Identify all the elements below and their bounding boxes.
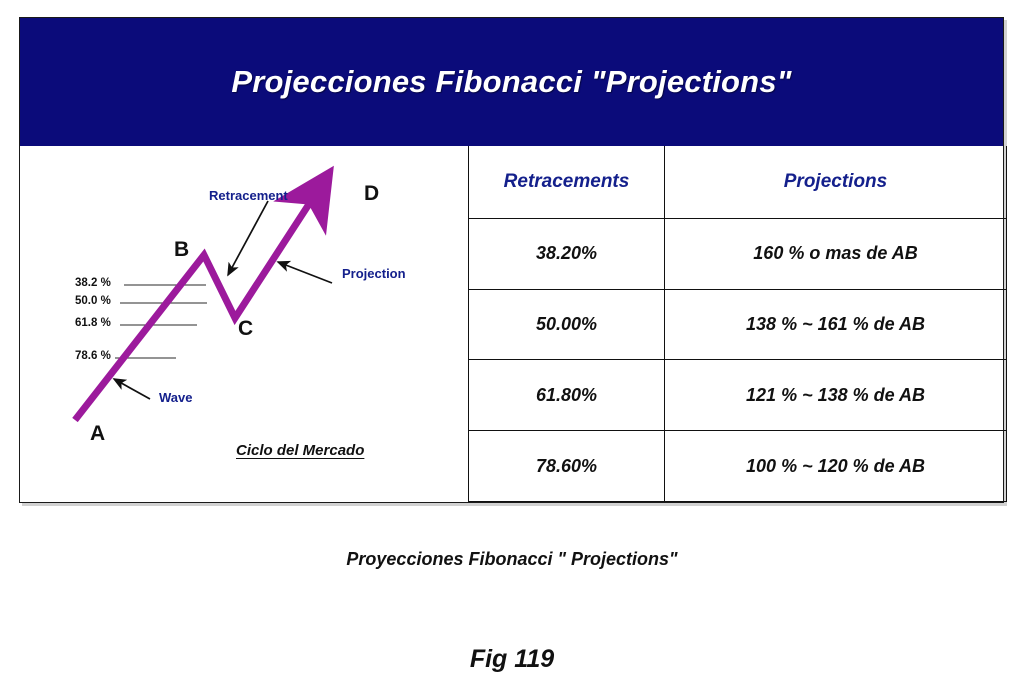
cell-retracement-4: 78.60% bbox=[469, 431, 665, 502]
point-label-C: C bbox=[238, 318, 253, 339]
table-row: 78.60% 100 % ~ 120 % de AB bbox=[469, 431, 1007, 502]
cell-retracement-2: 50.00% bbox=[469, 289, 665, 360]
page-title: Projecciones Fibonacci "Projections" bbox=[231, 64, 791, 100]
cell-projection-1: 160 % o mas de AB bbox=[665, 218, 1007, 289]
annotation-wave: Wave bbox=[159, 391, 192, 404]
figure-caption-text: Proyecciones Fibonacci " Projections" bbox=[0, 549, 1024, 570]
annotation-retracement: Retracement bbox=[209, 189, 288, 202]
point-label-A: A bbox=[90, 423, 105, 444]
diagram-footer-label: Ciclo del Mercado bbox=[236, 443, 364, 458]
point-label-D: D bbox=[364, 183, 379, 204]
market-cycle-diagram: A B C D Retracement Projection Wave 38.2… bbox=[20, 146, 468, 502]
header-label-retracements: Retracements bbox=[504, 171, 630, 192]
value-projection-3: 121 % ~ 138 % de AB bbox=[746, 385, 925, 405]
header-cell-projections: Projections bbox=[665, 146, 1007, 218]
value-retracement-2: 50.00% bbox=[536, 314, 597, 334]
header-cell-retracements: Retracements bbox=[469, 146, 665, 218]
projection-leader-arrow bbox=[278, 262, 332, 283]
value-projection-1: 160 % o mas de AB bbox=[753, 243, 917, 263]
level-label-61-8: 61.8 % bbox=[75, 318, 111, 330]
value-retracement-1: 38.20% bbox=[536, 243, 597, 263]
title-banner: Projecciones Fibonacci "Projections" bbox=[20, 18, 1003, 146]
slide-body: A B C D Retracement Projection Wave 38.2… bbox=[20, 146, 1003, 502]
wave-path bbox=[75, 201, 311, 420]
value-projection-2: 138 % ~ 161 % de AB bbox=[746, 314, 925, 334]
value-retracement-4: 78.60% bbox=[536, 456, 597, 476]
table-row: 61.80% 121 % ~ 138 % de AB bbox=[469, 360, 1007, 431]
wave-leader-arrow bbox=[114, 379, 150, 399]
cell-retracement-1: 38.20% bbox=[469, 218, 665, 289]
slide-frame: Projecciones Fibonacci "Projections" bbox=[19, 17, 1004, 503]
level-label-50-0: 50.0 % bbox=[75, 296, 111, 308]
point-label-B: B bbox=[174, 239, 189, 260]
cell-projection-4: 100 % ~ 120 % de AB bbox=[665, 431, 1007, 502]
cell-projection-2: 138 % ~ 161 % de AB bbox=[665, 289, 1007, 360]
header-label-projections: Projections bbox=[784, 171, 887, 192]
cell-retracement-3: 61.80% bbox=[469, 360, 665, 431]
fibonacci-table: Retracements Projections 38.20% 160 % o … bbox=[468, 146, 1007, 502]
cell-projection-3: 121 % ~ 138 % de AB bbox=[665, 360, 1007, 431]
table-row: 50.00% 138 % ~ 161 % de AB bbox=[469, 289, 1007, 360]
level-label-78-6: 78.6 % bbox=[75, 351, 111, 363]
table-row: 38.20% 160 % o mas de AB bbox=[469, 218, 1007, 289]
fibonacci-table-pane: Retracements Projections 38.20% 160 % o … bbox=[468, 146, 1003, 502]
value-retracement-3: 61.80% bbox=[536, 385, 597, 405]
level-label-38-2: 38.2 % bbox=[75, 278, 111, 290]
annotation-projection: Projection bbox=[342, 267, 406, 280]
table-header-row: Retracements Projections bbox=[469, 146, 1007, 218]
retracement-leader-arrow bbox=[228, 201, 268, 275]
value-projection-4: 100 % ~ 120 % de AB bbox=[746, 456, 925, 476]
figure-number: Fig 119 bbox=[0, 645, 1024, 674]
